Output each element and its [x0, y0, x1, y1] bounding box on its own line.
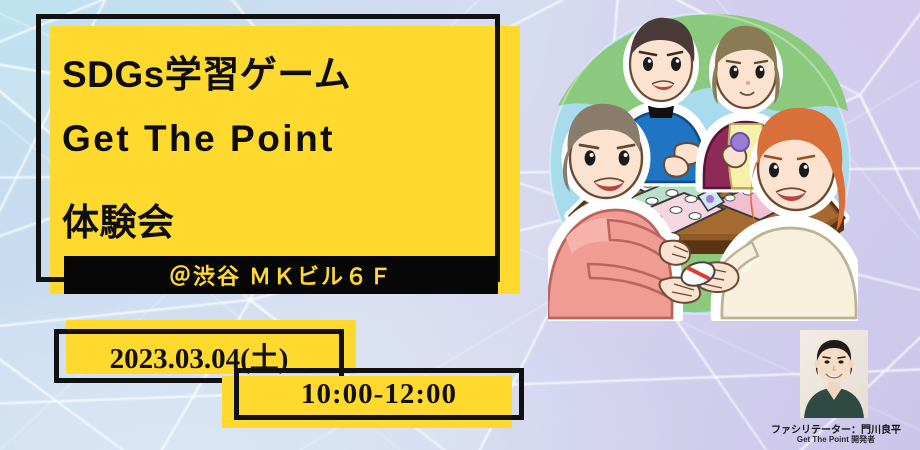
title-line-3: 体験会 [62, 192, 175, 246]
title-line-1: SDGs学習ゲーム [62, 44, 351, 98]
event-time: 10:00-12:00 [234, 368, 524, 420]
title-text-group: SDGs学習ゲーム Get The Point 体験会 [62, 30, 502, 280]
venue-text: ＠渋谷 ＭＫビル６Ｆ [169, 259, 393, 291]
event-banner: SDGs学習ゲーム Get The Point 体験会 ＠渋谷 ＭＫビル６Ｆ 2… [0, 0, 920, 450]
facilitator-photo [800, 330, 868, 418]
venue-bar: ＠渋谷 ＭＫビル６Ｆ [64, 256, 498, 294]
facilitator-role: Get The Point 開発者 [756, 434, 916, 445]
facilitator-portrait-icon [800, 330, 868, 418]
board-game-illustration [548, 6, 858, 321]
title-line-2: Get The Point [62, 118, 335, 160]
